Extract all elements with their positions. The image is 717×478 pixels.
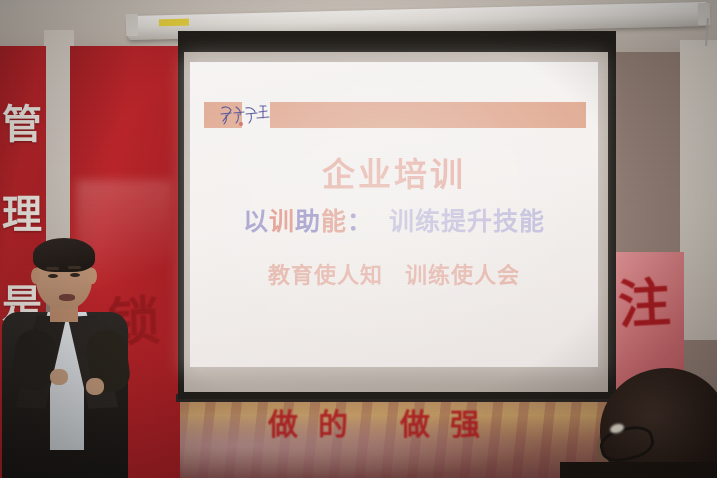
- subtitle-seg-3: 助: [295, 207, 321, 236]
- presenter-mouth: [59, 294, 75, 301]
- presenter-eye-right: [70, 273, 80, 277]
- presenter-brow-left: [46, 267, 59, 270]
- presenter-eye-left: [48, 274, 58, 278]
- projected-slide: 企业培训 以训助能：训练提升技能 教育使人知训练使人会: [190, 62, 598, 367]
- slide-subtitle: 以训助能：训练提升技能: [190, 202, 598, 238]
- roller-warning-label: [159, 19, 189, 27]
- subtitle-tail: 训练提升技能: [389, 207, 545, 236]
- banner-char-2: 理: [2, 195, 42, 235]
- slide-title: 企业培训: [190, 148, 598, 196]
- poster-char-4: 强: [450, 400, 480, 444]
- subtitle-seg-4: 能: [321, 207, 347, 236]
- poster-char-2: 的: [318, 400, 348, 444]
- wall-gap-right: [680, 40, 717, 340]
- presenter-hand-right: [86, 378, 104, 395]
- slide-tagline: 教育使人知训练使人会: [190, 258, 598, 290]
- banner-char-1: 管: [2, 105, 42, 145]
- poster-char-1: 做: [268, 400, 298, 444]
- presenter-hand-left: [50, 369, 68, 385]
- subtitle-colon: ：: [347, 207, 373, 236]
- presenter-belt: [48, 450, 100, 461]
- wall-character-zhu: 注: [616, 261, 672, 339]
- subtitle-seg-2: 训: [269, 207, 295, 236]
- poster-char-3: 做: [400, 400, 430, 444]
- subtitle-seg-1: 以: [243, 207, 269, 236]
- audience-member-shoulder: [560, 462, 717, 478]
- photograph-scene: 管 理 是 正 锁 注 做 的 做 强: [0, 0, 717, 478]
- presenter-ear-right: [88, 268, 97, 284]
- roller-cap-left: [126, 14, 139, 36]
- tagline-left: 教育使人知: [268, 264, 383, 289]
- presenter-brow-right: [68, 266, 81, 269]
- presenter-hair: [33, 238, 95, 272]
- handwritten-calligraphy-logo: [216, 102, 276, 128]
- tagline-right: 训练使人会: [405, 264, 520, 289]
- slide-header-bar: [270, 102, 586, 128]
- presenter-ear-left: [31, 268, 40, 284]
